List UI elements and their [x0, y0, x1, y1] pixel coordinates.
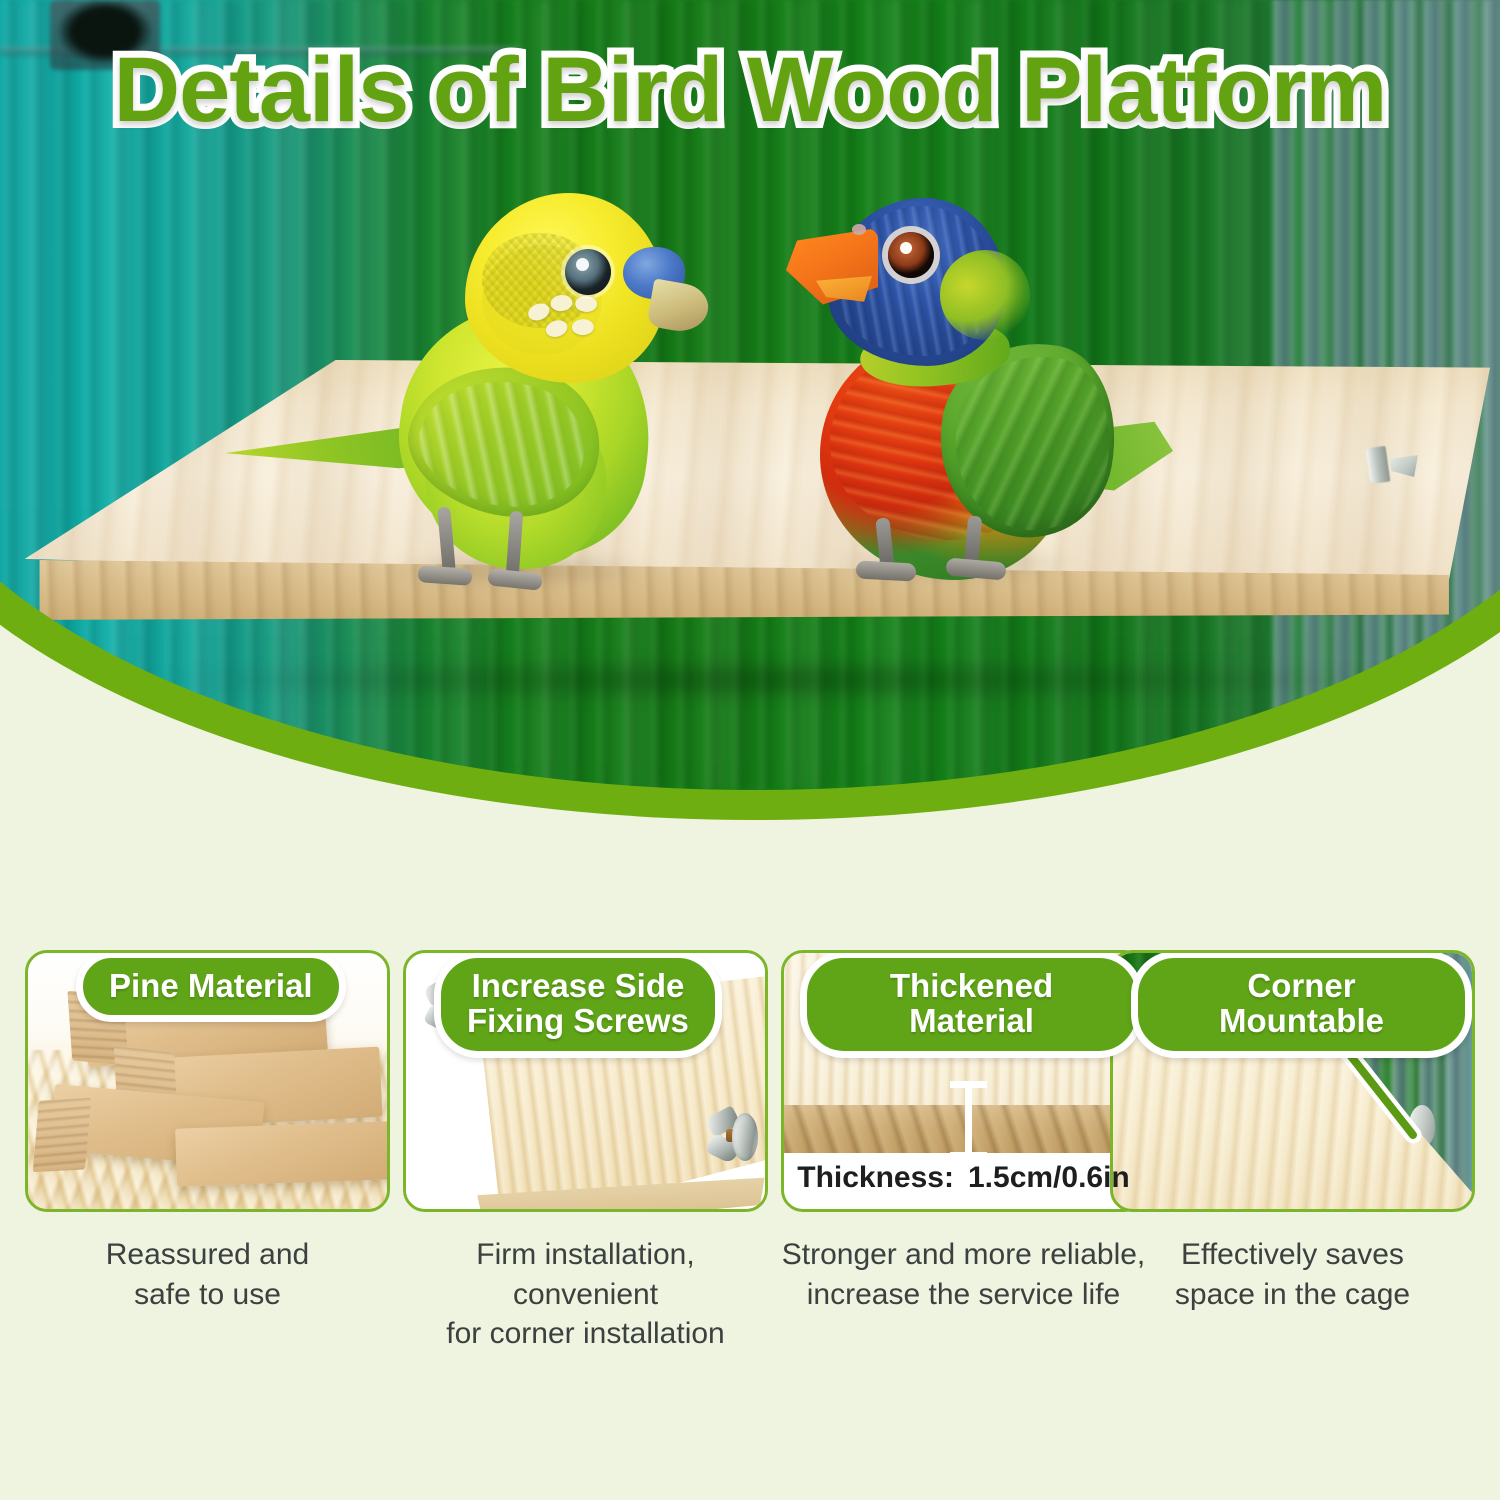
feature-card-side-fixing-screws[interactable]: Increase Side Fixing Screws: [403, 950, 768, 1212]
lorikeet-nape: [940, 250, 1030, 340]
card-4-caption: Effectively saves space in the cage: [1110, 1235, 1475, 1314]
feature-card-thickened-material[interactable]: Thickness:1.5cm/0.6in Thickened Material: [781, 950, 1146, 1212]
card-3-caption: Stronger and more reliable, increase the…: [781, 1235, 1146, 1314]
hero-section: Details of Bird Wood Platform: [0, 0, 1500, 830]
lorikeet-eye: [888, 232, 934, 278]
card-1-caption: Reassured and safe to use: [25, 1235, 390, 1314]
page-title: Details of Bird Wood Platform: [0, 44, 1500, 136]
budgie-eye: [565, 249, 611, 295]
lorikeet-foot-left: [856, 560, 917, 581]
thickness-annotation: Thickness:1.5cm/0.6in: [784, 1161, 1143, 1195]
thickness-value: 1.5cm/0.6in: [968, 1161, 1130, 1194]
feature-cards: Pine Material Reassured and safe to use …: [0, 905, 1500, 1325]
cage-mount-screw-icon: [1368, 445, 1414, 487]
card-1-badge: Pine Material: [76, 951, 346, 1022]
feature-card-corner-mountable[interactable]: Corner Mountable: [1110, 950, 1475, 1212]
pine-block-bottom: [175, 1121, 387, 1186]
pine-block-lower-end: [33, 1098, 92, 1172]
rainbow-lorikeet-bird: [790, 180, 1150, 600]
card-4-badge: Corner Mountable: [1131, 951, 1472, 1058]
card-2-caption: Firm installation, convenient for corner…: [403, 1235, 768, 1354]
wing-nut-screw-icon-right: [706, 1105, 765, 1167]
lorikeet-nostril: [852, 224, 866, 235]
feature-card-pine-material[interactable]: Pine Material: [25, 950, 390, 1212]
thickness-label: Thickness:: [797, 1161, 954, 1194]
card-2-badge: Increase Side Fixing Screws: [434, 951, 722, 1058]
dimension-arrow-icon: [948, 1081, 988, 1159]
card-3-badge: Thickened Material: [800, 951, 1143, 1058]
budgerigar-bird: [230, 185, 660, 605]
platform-shadow: [130, 660, 1430, 700]
